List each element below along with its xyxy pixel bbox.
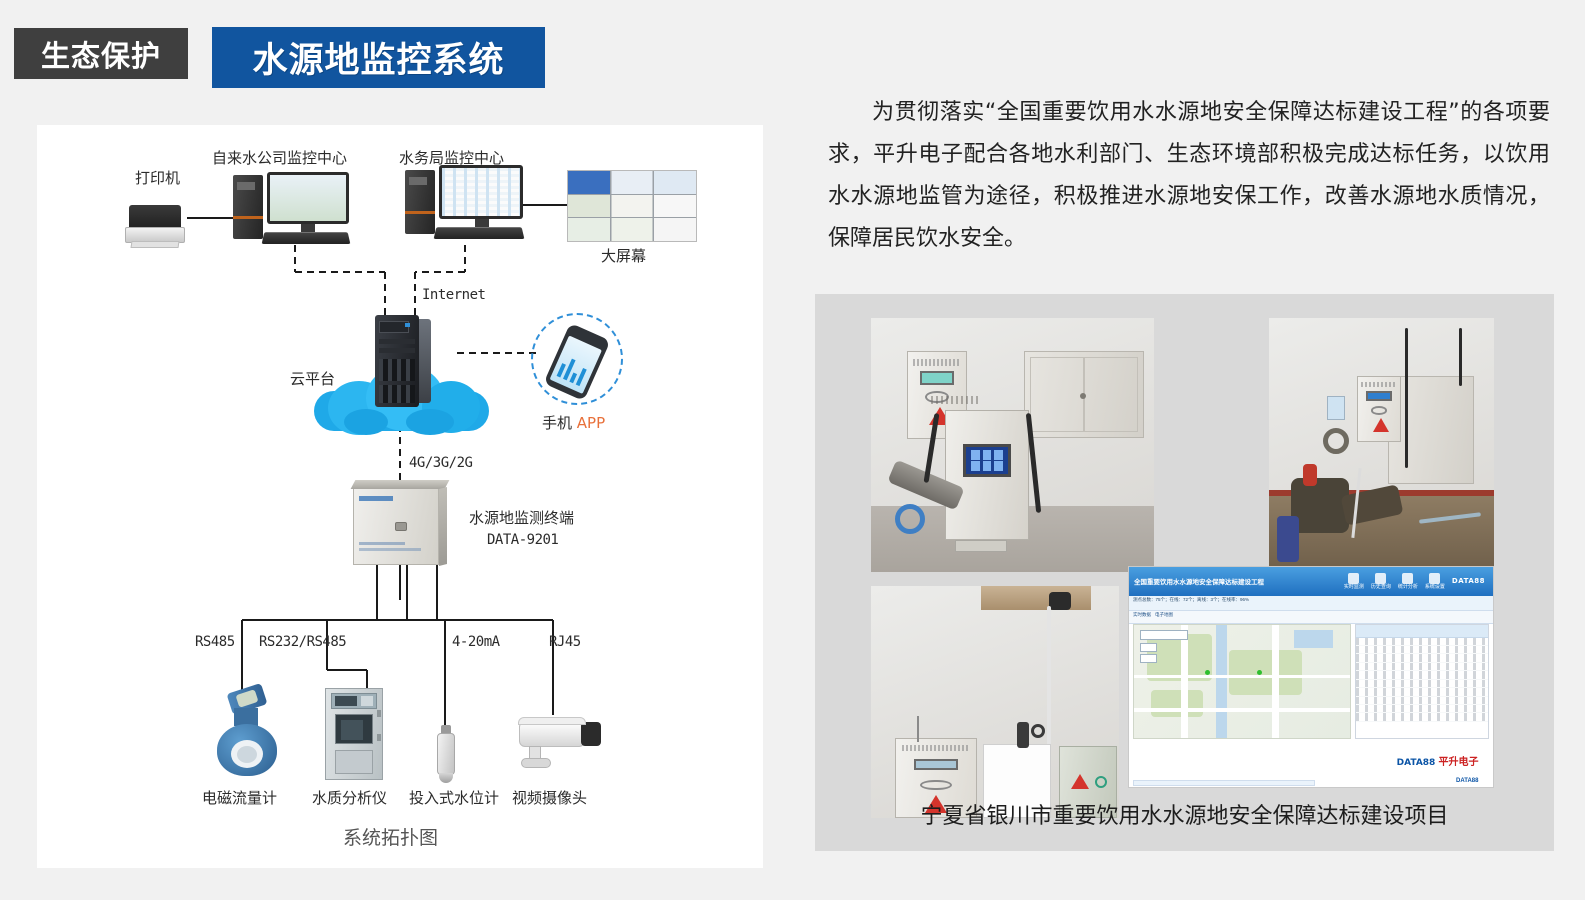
brand-logo: DATA88 平升电子	[1397, 753, 1479, 768]
video-camera-icon	[515, 713, 605, 775]
nav-item-statistics[interactable]: 统计分析	[1398, 573, 1418, 591]
tab-electronic-map[interactable]: 电子地图	[1155, 612, 1173, 622]
video-wall-icon	[567, 170, 697, 242]
flow-meter-icon	[207, 688, 287, 780]
topology-card: 打印机 自来水公司监控中心	[37, 125, 763, 868]
photo-gallery-panel: 全国重要饮用水水源地安全保障达标建设工程 实时监测 历史查询 统计分析	[815, 294, 1554, 851]
rs232-rs485-link-label: RS232/RS485	[259, 634, 346, 650]
category-tag: 生态保护	[14, 28, 188, 79]
software-title: 全国重要饮用水水源地安全保障达标建设工程	[1129, 576, 1264, 586]
photo-pump-valve-room	[1269, 318, 1494, 572]
photo-control-cabinet-room	[871, 318, 1154, 572]
cellular-link-label: 4G/3G/2G	[409, 455, 472, 471]
big-screen-label: 大屏幕	[601, 245, 646, 266]
nav-item-settings[interactable]: 系统设置	[1425, 573, 1445, 591]
history-icon	[1375, 573, 1386, 584]
rs485-link-label: RS485	[195, 634, 235, 650]
software-status-line: 测点总数：75个；在线：72个；离线：3个；在线率：96%	[1129, 596, 1493, 611]
workstation-1-icon	[233, 172, 349, 247]
mobile-app-icon	[531, 313, 623, 405]
device-label-level-gauge: 投入式水位计	[409, 787, 499, 808]
software-tabs: 实时数据 电子地图	[1129, 611, 1493, 624]
software-logo: DATA88	[1452, 577, 1489, 585]
terminal-name-label: 水源地监测终端	[469, 507, 574, 528]
photo-wall-mounted-rtu	[871, 586, 1119, 818]
device-label-camera: 视频摄像头	[512, 787, 587, 808]
topology-caption: 系统拓扑图	[343, 823, 438, 850]
printer-label: 打印机	[135, 167, 180, 188]
photo-software-screenshot: 全国重要饮用水水源地安全保障达标建设工程 实时监测 历史查询 统计分析	[1128, 566, 1494, 788]
mobile-app-label-en: APP	[577, 414, 605, 432]
nav-item-history[interactable]: 历史查询	[1371, 573, 1391, 591]
ma420-link-label: 4-20mA	[452, 634, 500, 650]
bar-chart-icon	[1402, 573, 1413, 584]
printer-icon	[125, 195, 185, 250]
workstation-2-icon	[405, 165, 523, 243]
device-label-water-quality: 水质分析仪	[312, 787, 387, 808]
mobile-app-label: 手机 APP	[542, 412, 605, 433]
bureau-center-label: 水务局监控中心	[399, 147, 504, 168]
cloud-platform-label: 云平台	[290, 368, 335, 389]
brand-logo-small: DATA88	[1456, 778, 1478, 784]
category-tag-label: 生态保护	[41, 33, 161, 75]
page-title-banner: 水源地监控系统	[212, 27, 545, 88]
gauge-icon	[1348, 573, 1359, 584]
intro-paragraph: 为贯彻落实“全国重要饮用水水源地安全保障达标建设工程”的各项要求，平升电子配合各…	[828, 92, 1550, 260]
water-quality-analyzer-icon	[325, 688, 383, 780]
software-footer: DATA88 平升电子 DATA88	[1129, 743, 1493, 787]
slide-root: 生态保护 水源地监控系统	[0, 0, 1585, 900]
rj45-link-label: RJ45	[549, 634, 581, 650]
photo-gallery-caption: 宁夏省银川市重要饮用水水源地安全保障达标建设项目	[815, 798, 1554, 830]
mobile-app-label-cn: 手机	[542, 414, 572, 432]
realtime-data-table[interactable]	[1355, 624, 1490, 738]
server-icon	[375, 315, 431, 407]
gear-icon	[1429, 573, 1440, 584]
terminal-model-label: DATA-9201	[487, 532, 558, 548]
topology-diagram: 打印机 自来水公司监控中心	[37, 125, 763, 868]
software-header: 全国重要饮用水水源地安全保障达标建设工程 实时监测 历史查询 统计分析	[1129, 567, 1493, 596]
nav-item-realtime[interactable]: 实时监测	[1344, 573, 1364, 591]
internet-link-label: Internet	[422, 287, 485, 303]
rtu-terminal-icon	[347, 480, 447, 565]
level-gauge-icon	[435, 725, 457, 783]
waterworks-center-label: 自来水公司监控中心	[212, 147, 347, 168]
software-nav: 实时监测 历史查询 统计分析 系统设置 DATA88	[1344, 573, 1493, 591]
device-label-flow-meter: 电磁流量计	[202, 787, 277, 808]
tab-realtime-data[interactable]: 实时数据	[1133, 612, 1151, 622]
page-title: 水源地监控系统	[252, 32, 504, 83]
map-canvas[interactable]	[1133, 624, 1351, 738]
